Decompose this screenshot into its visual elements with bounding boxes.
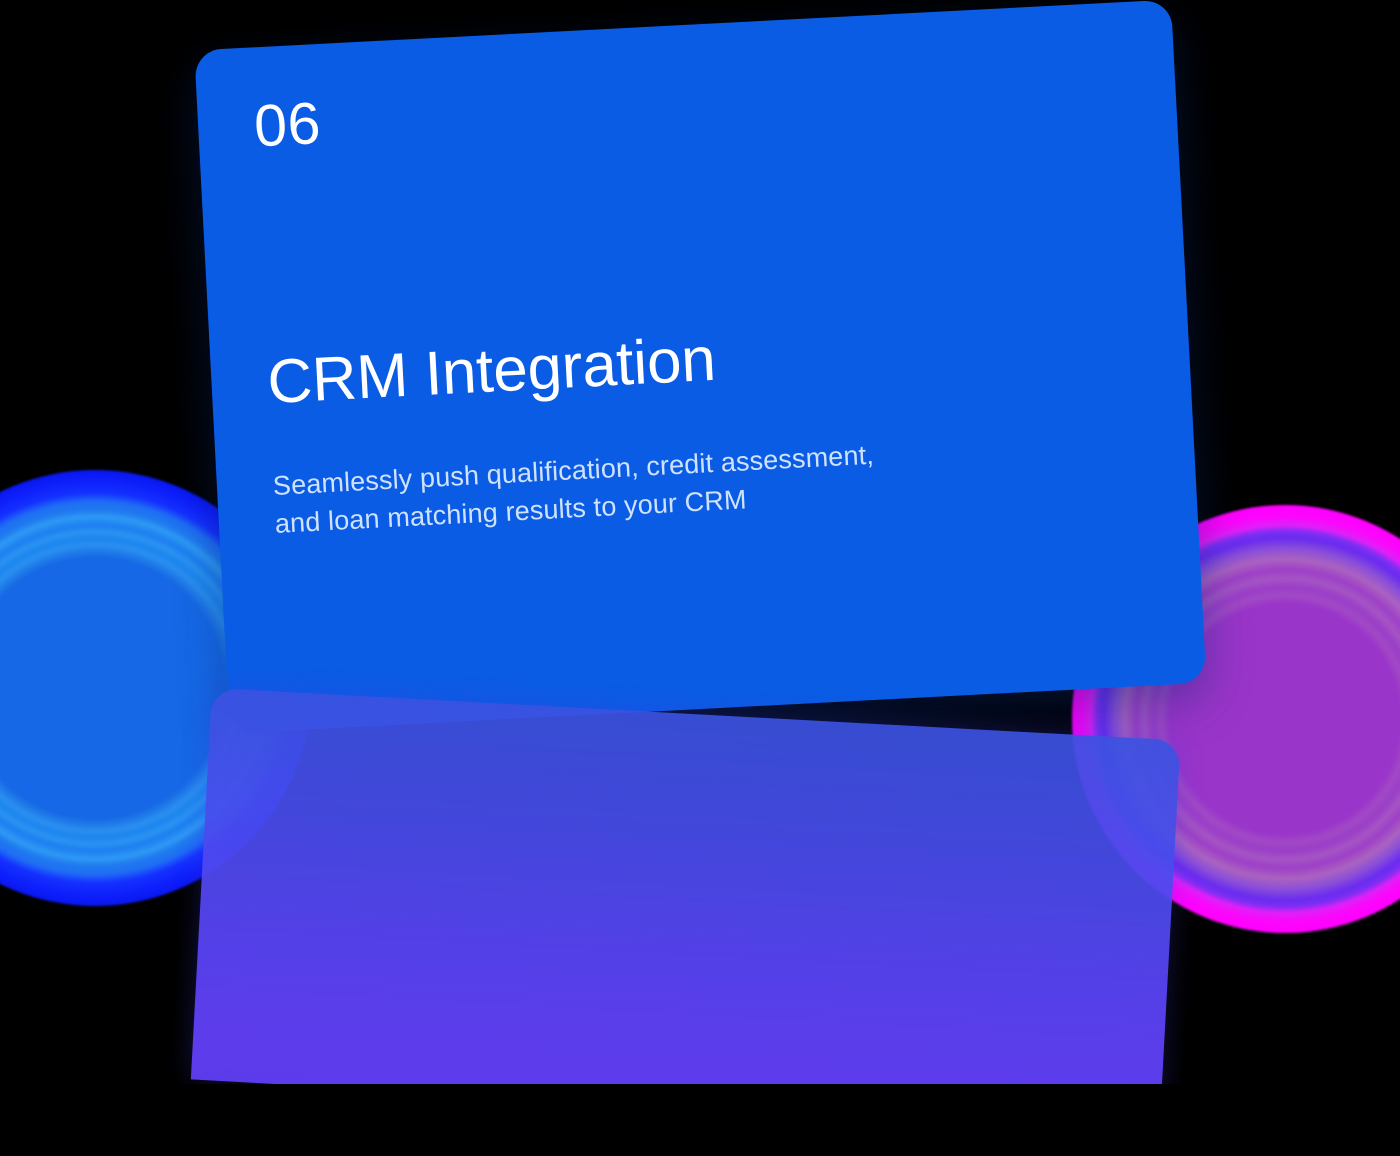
violet-glass-panel [191,688,1181,1132]
page-title: CRM Integration [266,327,717,417]
feature-card-content: 06 CRM Integration Seamlessly push quali… [194,0,1206,734]
feature-description: Seamlessly push qualification, credit as… [272,424,1105,544]
step-number: 06 [253,94,323,156]
feature-card: 06 CRM Integration Seamlessly push quali… [194,0,1206,734]
slide-stage: 06 CRM Integration Seamlessly push quali… [0,0,1400,1156]
left-crop-mask [0,688,211,1156]
